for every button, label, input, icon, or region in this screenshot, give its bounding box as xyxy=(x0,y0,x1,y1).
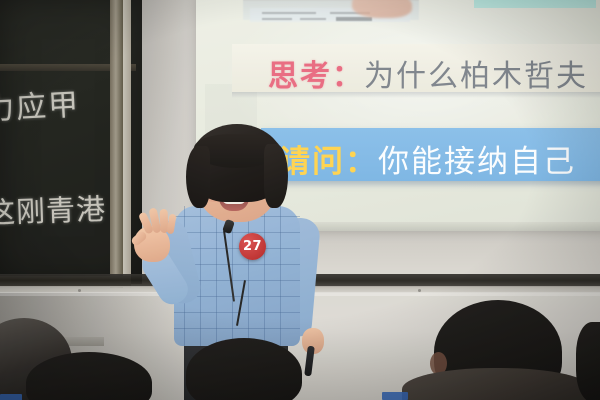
chalk-text-line-1: 力应甲 xyxy=(0,80,81,129)
blackboard-frame-edge xyxy=(123,0,131,288)
question-body: 你能接纳自己 xyxy=(378,144,576,180)
chair-back xyxy=(382,392,408,400)
thinking-prefix: 思考： xyxy=(268,59,364,94)
audience-head xyxy=(186,338,302,400)
chair-back xyxy=(0,394,22,400)
teacher-hair-left xyxy=(186,146,210,208)
number-badge: 27 xyxy=(239,233,266,260)
audience-head xyxy=(576,322,600,400)
slide-photo-hand xyxy=(352,0,412,18)
slide-photo-textline xyxy=(262,12,316,14)
slide-photo-textline xyxy=(336,17,372,21)
audience-head xyxy=(402,368,592,400)
badge-number: 27 xyxy=(239,233,266,260)
slide-photo-textline xyxy=(300,18,326,20)
blackboard-frame-right xyxy=(110,0,123,288)
slide-row-thinking-shadow xyxy=(232,92,600,98)
classroom-photo: 力应甲 这刚青港 思考：为什么柏木哲夫 请问：你能接纳自己 xyxy=(0,0,600,400)
teacher-hair-right xyxy=(264,144,288,208)
slide-photo-textline xyxy=(262,18,292,20)
slide-row-thinking: 思考：为什么柏木哲夫 xyxy=(232,44,600,92)
chalk-text-line-2: 这刚青港 xyxy=(0,186,107,232)
thinking-body: 为什么柏木哲夫 xyxy=(364,59,588,94)
tray-screw xyxy=(78,289,81,292)
slide-row-thinking-text: 思考：为什么柏木哲夫 xyxy=(268,51,588,95)
tray-screw xyxy=(418,289,421,292)
teal-accent-box xyxy=(474,0,596,8)
